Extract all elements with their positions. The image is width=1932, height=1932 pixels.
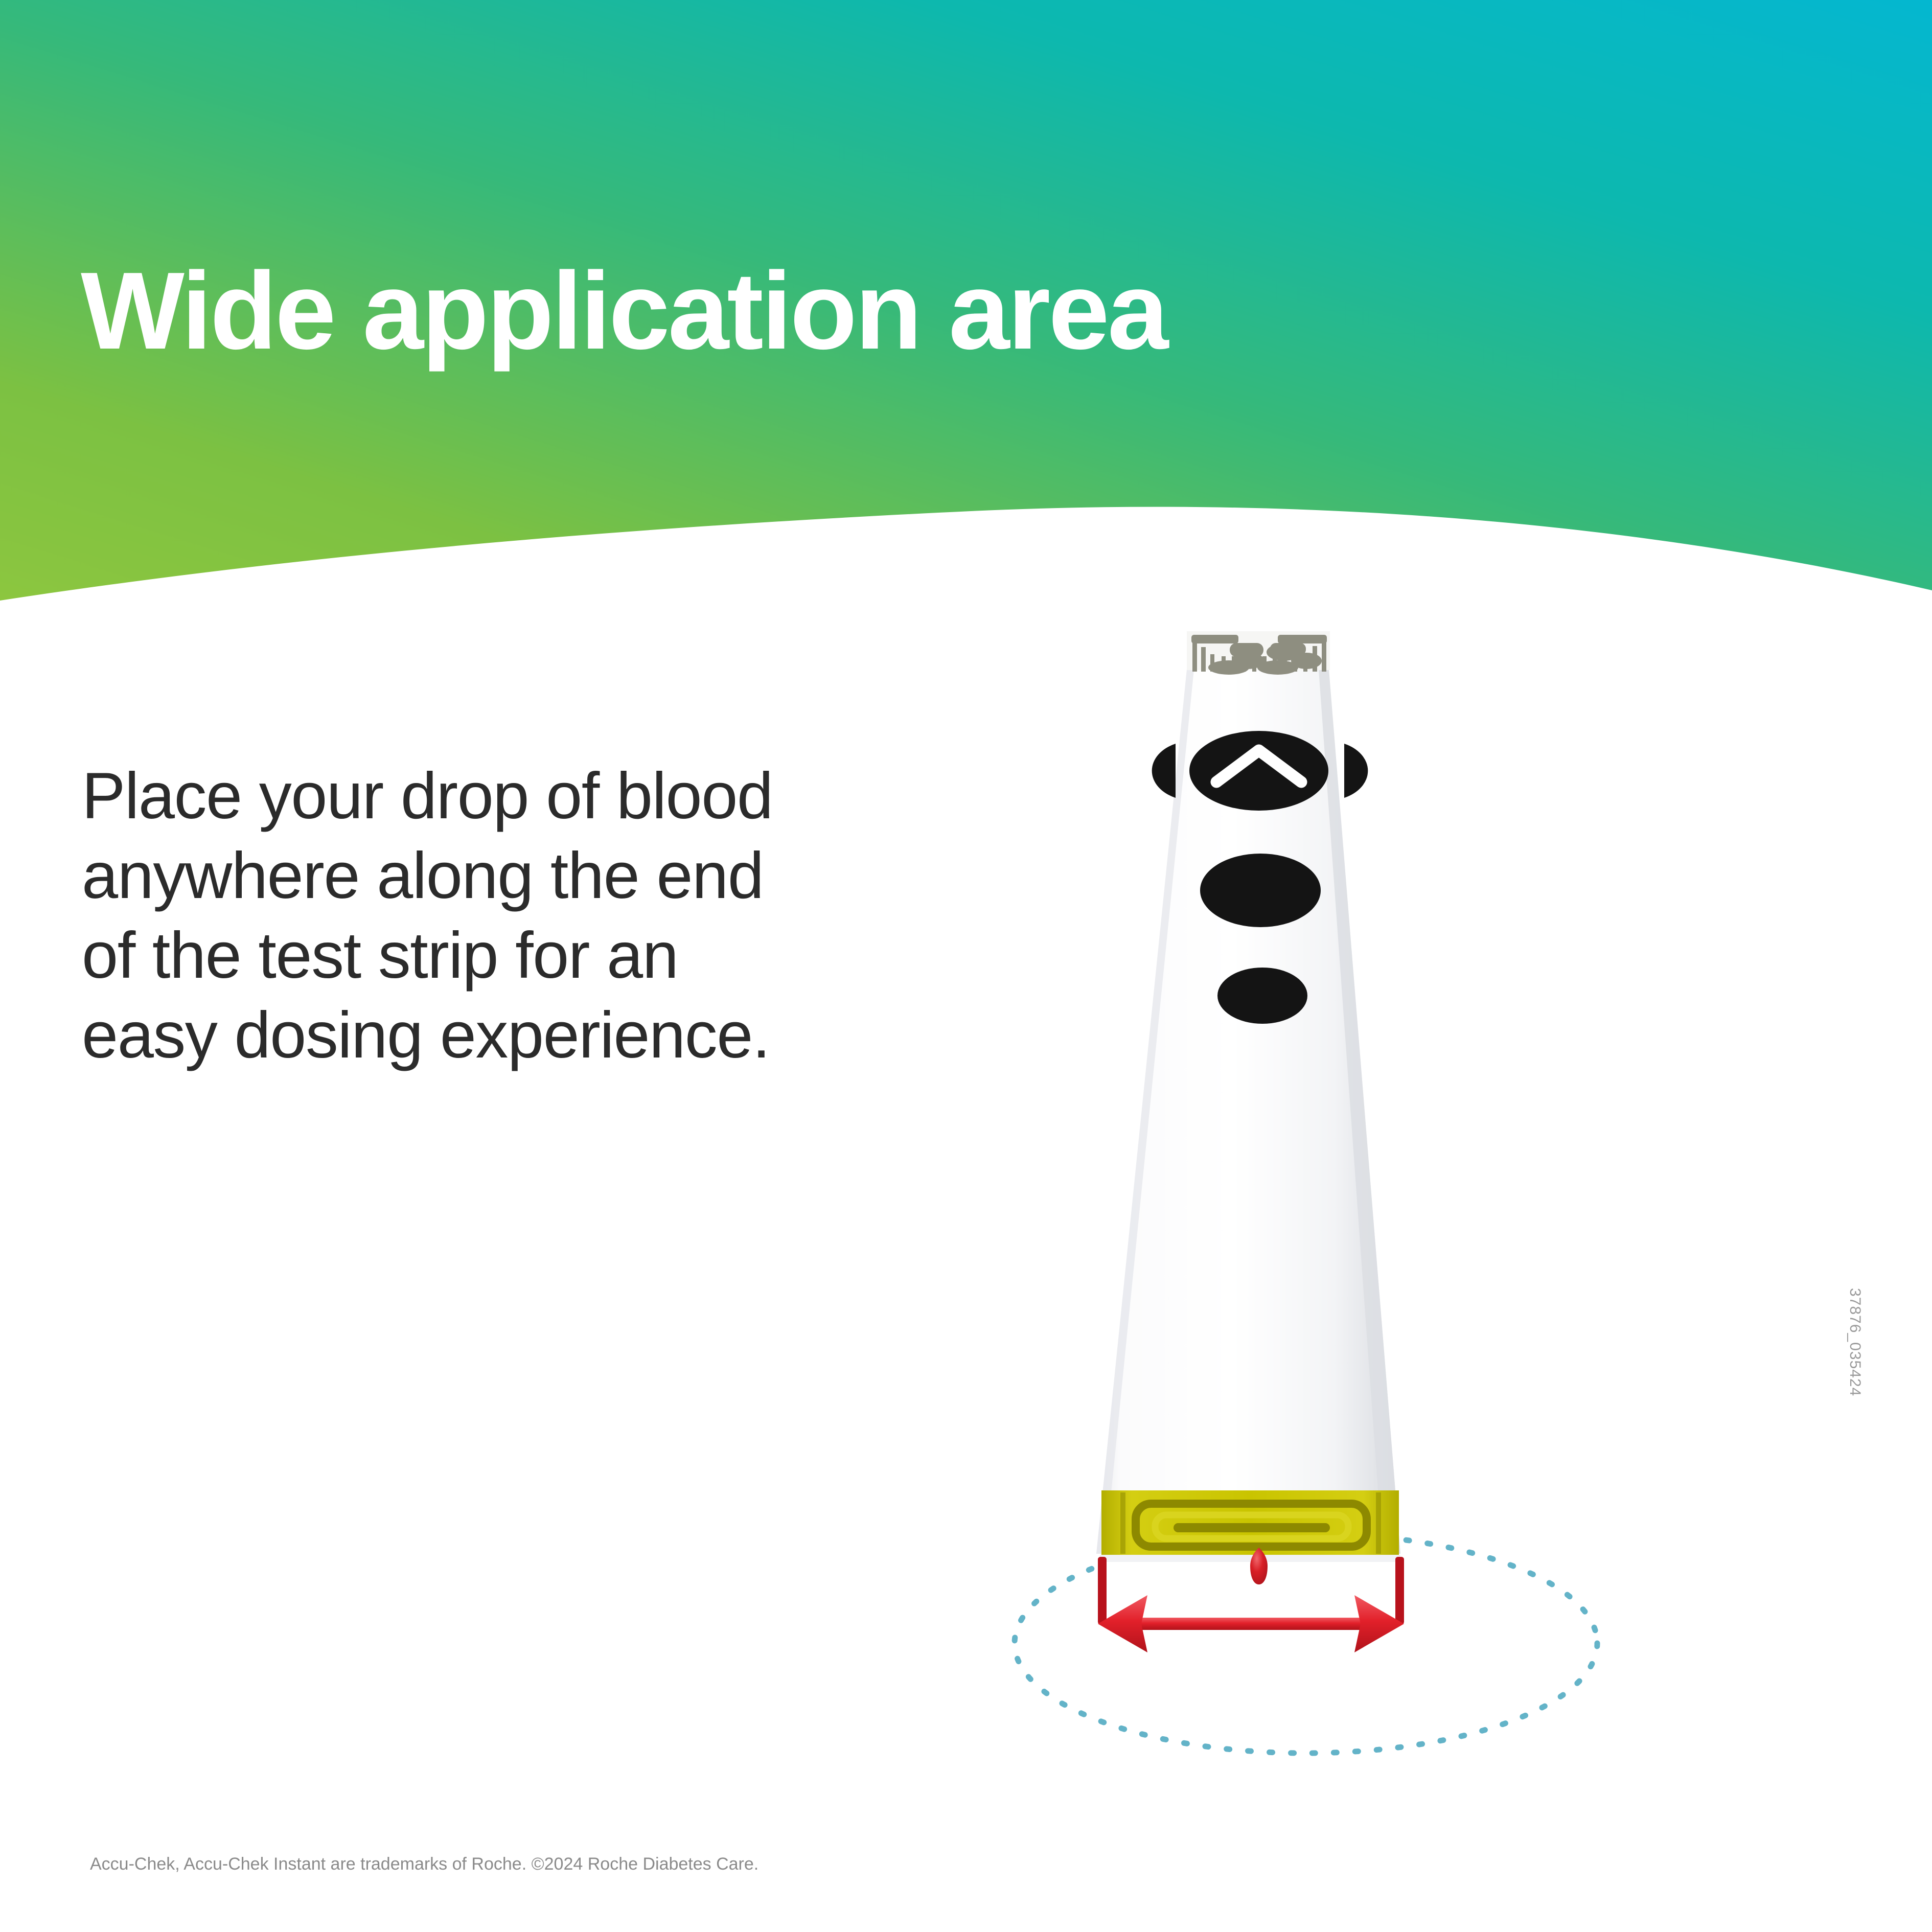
description-line-4: easy dosing experience. [82,996,910,1075]
header-banner: Wide application area [0,0,1932,644]
test-strip-illustration [869,603,1738,1830]
description-line-2: anywhere along the end [82,836,910,916]
print-code-label: 37876_035424 [1846,1288,1864,1503]
description-text: Place your drop of blood anywhere along … [82,756,910,1076]
description-line-3: of the test strip for an [82,916,910,996]
marker-oval-right-edge [1344,744,1368,798]
gold-application-band [1101,1490,1399,1556]
poster-canvas: Wide application area Place your drop of… [0,0,1932,1932]
description-line-1: Place your drop of blood [82,756,910,836]
span-tick-left [1098,1557,1107,1624]
marker-oval-third [1217,968,1307,1024]
footer-legal-text: Accu-Chek, Accu-Chek Instant are tradema… [90,1854,758,1874]
marker-oval-second [1200,854,1321,927]
span-arrow-shaft [1135,1618,1370,1630]
marker-oval-left-edge [1152,744,1176,798]
span-tick-right [1395,1557,1404,1624]
marker-oval-primary [1189,731,1328,811]
page-title: Wide application area [81,256,1614,365]
strip-leading-edge-shade [1100,1555,1400,1562]
strip-contacts [1187,631,1330,675]
